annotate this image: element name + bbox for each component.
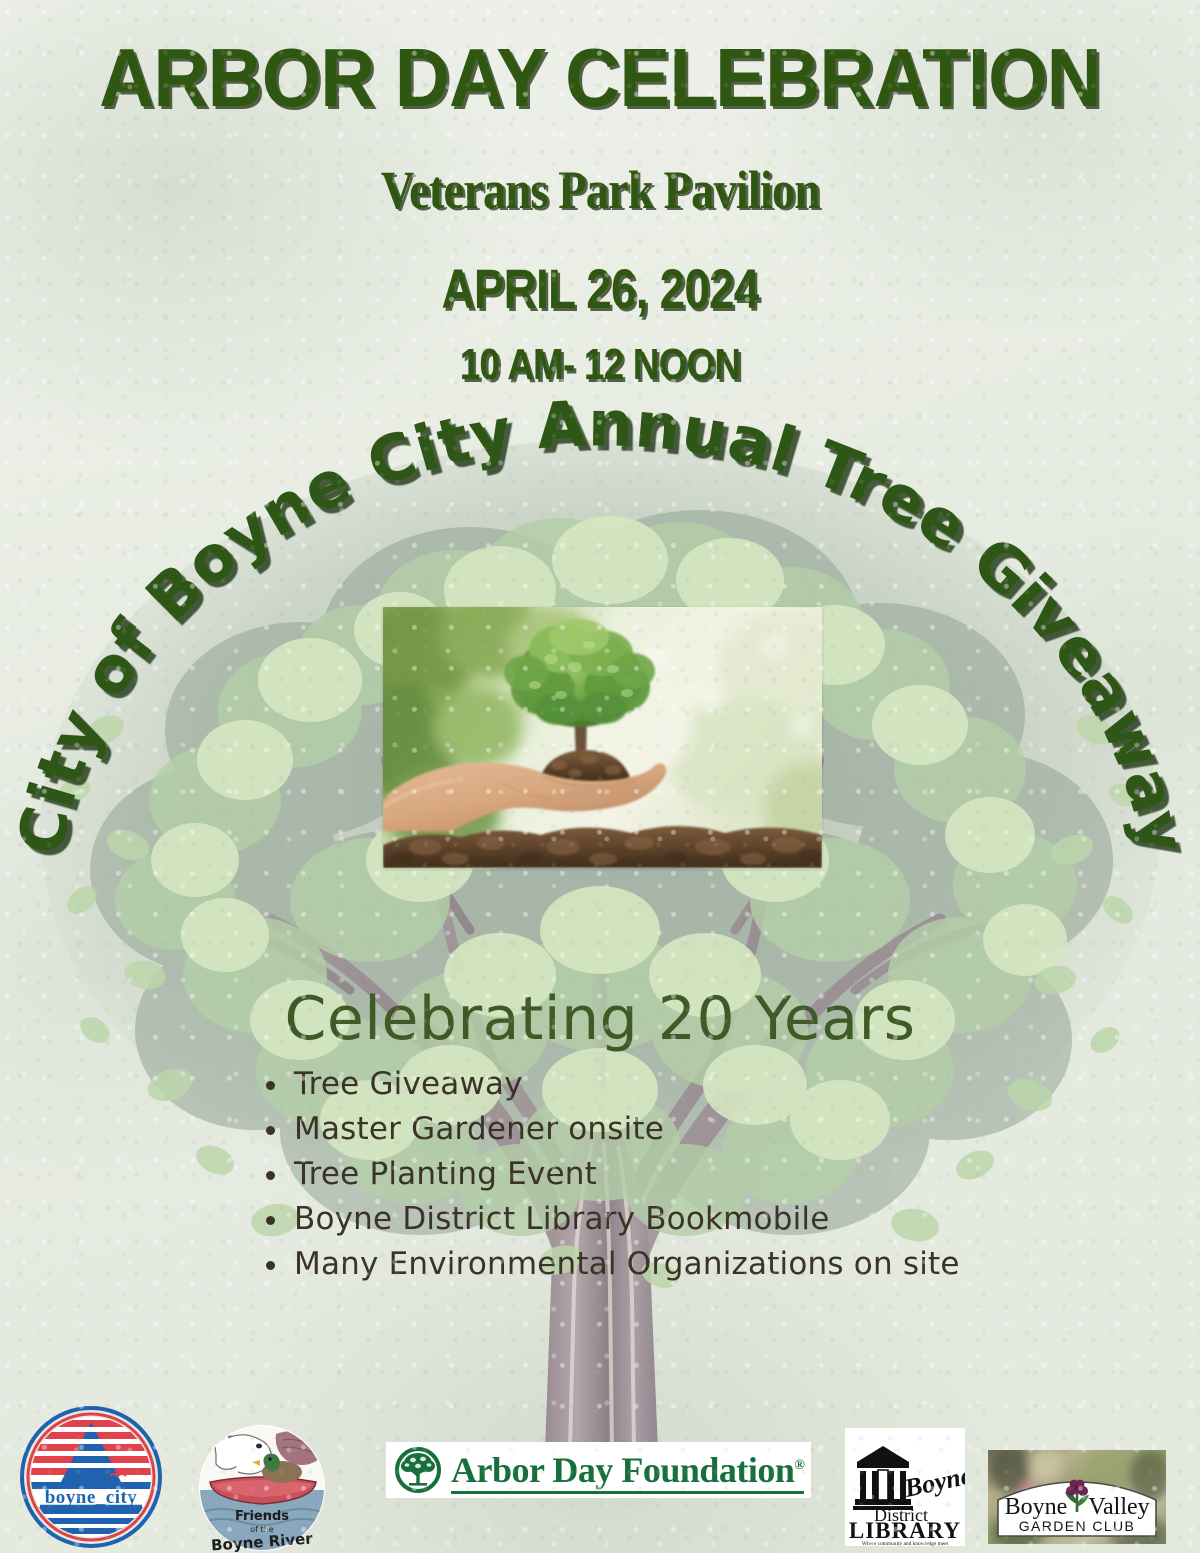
sponsor-logos-row: boyne_city — [0, 1398, 1200, 1553]
logo-arbor-day-text: Arbor Day Foundation® — [451, 1446, 804, 1494]
features-list: Tree Giveaway Master Gardener onsite Tre… — [262, 1062, 1022, 1287]
arbor-day-tree-icon — [394, 1446, 442, 1494]
logo-garden-line2: GARDEN CLUB — [1019, 1518, 1136, 1534]
logo-boyne-city: boyne_city — [18, 1404, 164, 1550]
logo-boyne-valley-garden-club: Boyne Valley GARDEN CLUB — [988, 1450, 1166, 1544]
poster-date: APRIL 26, 2024 — [108, 258, 1092, 320]
celebrating-heading: Celebrating 20 Years — [0, 985, 1200, 1053]
logo-library-line2: LIBRARY — [849, 1518, 961, 1543]
logo-garden-word2: Valley — [1088, 1494, 1149, 1520]
arc-headline-svg: City of Boyne City Annual Tree Giveaway — [0, 400, 1200, 860]
logo-boyne-district-library: Boyne District LIBRARY Where community a… — [845, 1428, 965, 1546]
list-item: Master Gardener onsite — [262, 1107, 1022, 1152]
arc-headline-text: City of Boyne City Annual Tree Giveaway — [4, 387, 1200, 860]
list-item: Tree Planting Event — [262, 1152, 1022, 1197]
arc-headline-wrap: City of Boyne City Annual Tree Giveaway — [0, 400, 1200, 860]
registered-trademark-icon: ® — [794, 1458, 804, 1473]
list-item: Many Environmental Organizations on site — [262, 1242, 1022, 1287]
poster-title: ARBOR DAY CELEBRATION — [48, 34, 1152, 122]
logo-arbor-day-foundation: Arbor Day Foundation® — [386, 1442, 811, 1498]
logo-garden-word1: Boyne — [1005, 1494, 1068, 1520]
arc-headline-textpath: City of Boyne City Annual Tree Giveaway — [4, 387, 1200, 860]
poster-venue: Veterans Park Pavilion — [84, 160, 1116, 220]
logo-library-tagline: Where community and knowledge meet — [862, 1541, 949, 1546]
logo-friends-line1: Friends — [235, 1509, 289, 1524]
list-item: Tree Giveaway — [262, 1062, 1022, 1107]
logo-friends-of-the-boyne-river: Friends of the Boyne River — [198, 1424, 326, 1552]
logo-arbor-day-wordmark: Arbor Day Foundation — [451, 1450, 794, 1490]
poster-canvas: ARBOR DAY CELEBRATION Veterans Park Pavi… — [0, 0, 1200, 1553]
list-item: Boyne District Library Bookmobile — [262, 1197, 1022, 1242]
poster-time: 10 AM- 12 NOON — [96, 340, 1104, 390]
